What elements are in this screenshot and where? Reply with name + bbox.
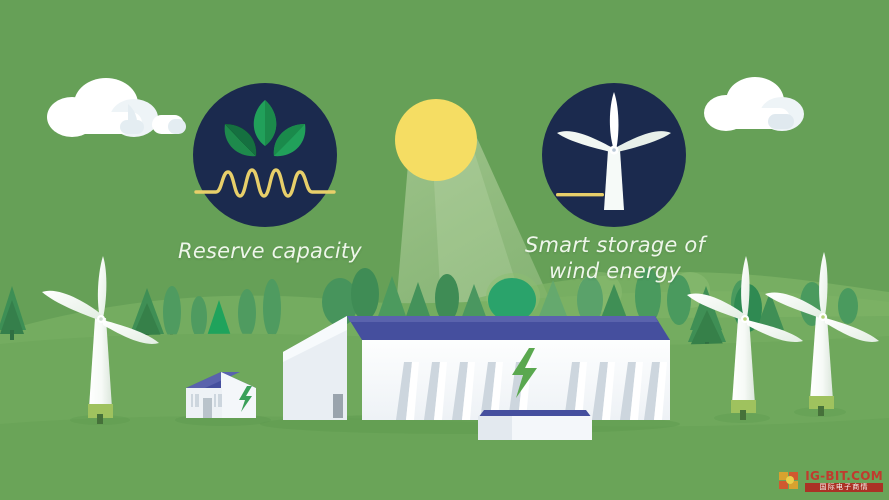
illustration-artwork xyxy=(0,0,889,500)
illustration-scene: Reserve capacity Smart storage of wind e… xyxy=(0,0,889,500)
battery-container xyxy=(478,410,592,440)
label-reserve-capacity: Reserve capacity xyxy=(155,238,385,264)
badge-smart-storage xyxy=(542,83,686,227)
badge-reserve-capacity xyxy=(193,83,337,227)
watermark-subtitle: 国际电子商情 xyxy=(805,483,883,492)
ig-bit-com-watermark: IG-BIT.COM 国际电子商情 xyxy=(779,470,883,492)
cloud-small-left xyxy=(152,115,186,134)
sun xyxy=(395,99,477,181)
battery-storage-warehouse xyxy=(260,316,680,434)
label-smart-storage: Smart storage of wind energy xyxy=(500,232,730,284)
watermark-logo-icon xyxy=(779,471,801,491)
watermark-title: IG-BIT.COM xyxy=(805,470,883,482)
badge-ground-bar xyxy=(556,193,604,196)
